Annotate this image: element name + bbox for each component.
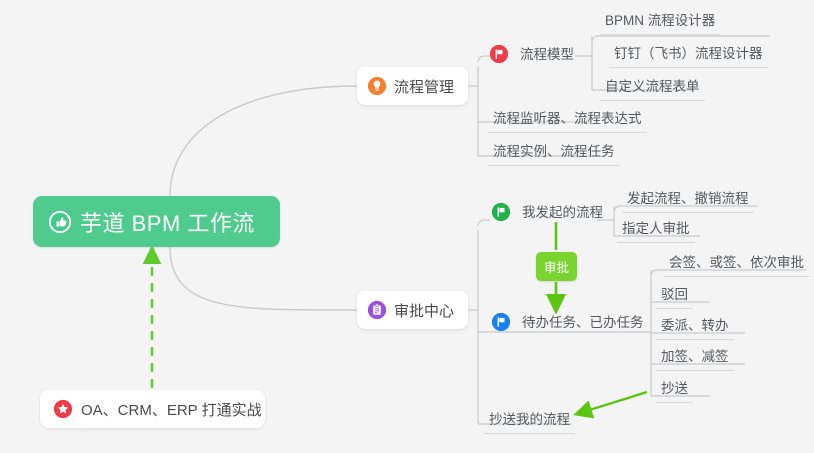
star-icon — [54, 400, 72, 418]
branch-label: 流程管理 — [394, 76, 454, 97]
branch-process-management[interactable]: 流程管理 — [357, 67, 468, 105]
leaf-process-instance[interactable]: 流程实例、流程任务 — [488, 143, 620, 166]
branch-label: 审批中心 — [394, 300, 454, 321]
callout-label: OA、CRM、ERP 打通实战 — [81, 399, 262, 420]
approval-tag: 审批 — [536, 252, 577, 281]
flag-icon — [490, 45, 508, 63]
node-label: 待办任务、已办任务 — [517, 314, 649, 331]
root-node[interactable]: 芋道 BPM 工作流 — [33, 196, 280, 247]
callout-oa-crm-erp[interactable]: OA、CRM、ERP 打通实战 — [40, 390, 265, 428]
leaf-bpmn-designer[interactable]: BPMN 流程设计器 — [600, 12, 720, 35]
node-process-model[interactable]: 流程模型 — [490, 45, 579, 63]
clipboard-icon — [368, 301, 386, 319]
leaf-cc-my-process[interactable]: 抄送我的流程 — [484, 411, 575, 434]
leaf-countersign[interactable]: 会签、或签、依次审批 — [664, 254, 809, 277]
leaf-custom-form[interactable]: 自定义流程表单 — [600, 78, 705, 101]
leaf-dingtalk-designer[interactable]: 钉钉（飞书）流程设计器 — [609, 45, 768, 68]
mindmap-canvas: 芋道 BPM 工作流 流程管理 流程模型 BPMN 流程设计器 钉钉（飞书）流程… — [0, 0, 814, 453]
node-my-initiated[interactable]: 我发起的流程 — [492, 203, 608, 221]
flag-icon — [492, 313, 510, 331]
leaf-cc[interactable]: 抄送 — [656, 380, 693, 403]
node-todo-done-tasks[interactable]: 待办任务、已办任务 — [492, 313, 649, 331]
leaf-start-cancel-process[interactable]: 发起流程、撤销流程 — [622, 190, 754, 213]
leaf-add-remove-sign[interactable]: 加签、减签 — [656, 348, 734, 371]
root-label: 芋道 BPM 工作流 — [80, 206, 255, 238]
node-label: 流程模型 — [515, 46, 579, 63]
lightbulb-icon — [368, 77, 386, 95]
thumbs-up-icon — [49, 211, 71, 233]
leaf-assignee-approval[interactable]: 指定人审批 — [617, 220, 695, 243]
node-label: 我发起的流程 — [517, 204, 608, 221]
leaf-reject[interactable]: 驳回 — [656, 286, 693, 309]
branch-approval-center[interactable]: 审批中心 — [357, 291, 468, 329]
flag-icon — [492, 203, 510, 221]
leaf-delegate-transfer[interactable]: 委派、转办 — [656, 317, 734, 340]
leaf-process-listener[interactable]: 流程监听器、流程表达式 — [488, 110, 647, 133]
